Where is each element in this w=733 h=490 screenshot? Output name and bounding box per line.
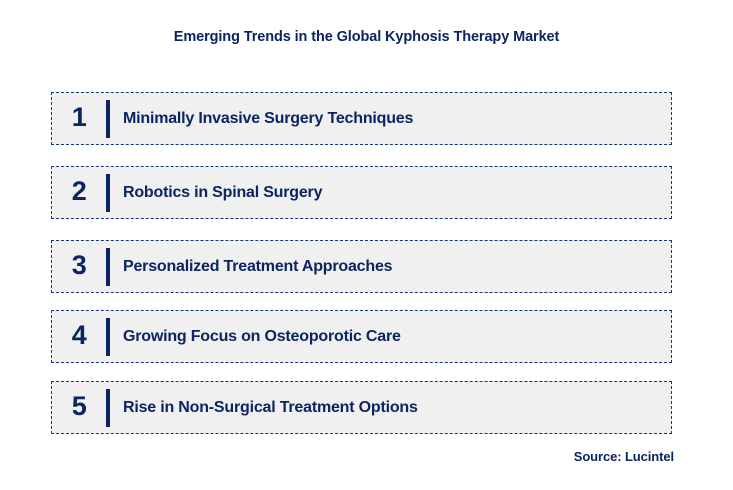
list-item[interactable]: 3 Personalized Treatment Approaches <box>51 240 672 293</box>
trend-rank-number: 3 <box>52 252 106 281</box>
trend-label: Growing Focus on Osteoporotic Care <box>123 328 671 346</box>
divider <box>106 318 110 356</box>
trend-rank-number: 1 <box>52 104 106 133</box>
trend-label: Minimally Invasive Surgery Techniques <box>123 110 671 128</box>
list-item[interactable]: 5 Rise in Non-Surgical Treatment Options <box>51 381 672 434</box>
divider <box>106 100 110 138</box>
page-title: Emerging Trends in the Global Kyphosis T… <box>0 29 733 45</box>
list-item[interactable]: 2 Robotics in Spinal Surgery <box>51 166 672 219</box>
trend-list: 1 Minimally Invasive Surgery Techniques … <box>51 92 672 434</box>
trend-label: Personalized Treatment Approaches <box>123 258 671 276</box>
trend-rank-number: 5 <box>52 393 106 422</box>
trend-rank-number: 2 <box>52 178 106 207</box>
list-item[interactable]: 1 Minimally Invasive Surgery Techniques <box>51 92 672 145</box>
infographic-canvas: Emerging Trends in the Global Kyphosis T… <box>0 0 733 490</box>
divider <box>106 248 110 286</box>
divider <box>106 174 110 212</box>
trend-rank-number: 4 <box>52 322 106 351</box>
source-attribution: Source: Lucintel <box>574 449 674 464</box>
trend-label: Rise in Non-Surgical Treatment Options <box>123 399 671 417</box>
divider <box>106 389 110 427</box>
list-item[interactable]: 4 Growing Focus on Osteoporotic Care <box>51 310 672 363</box>
trend-label: Robotics in Spinal Surgery <box>123 184 671 202</box>
